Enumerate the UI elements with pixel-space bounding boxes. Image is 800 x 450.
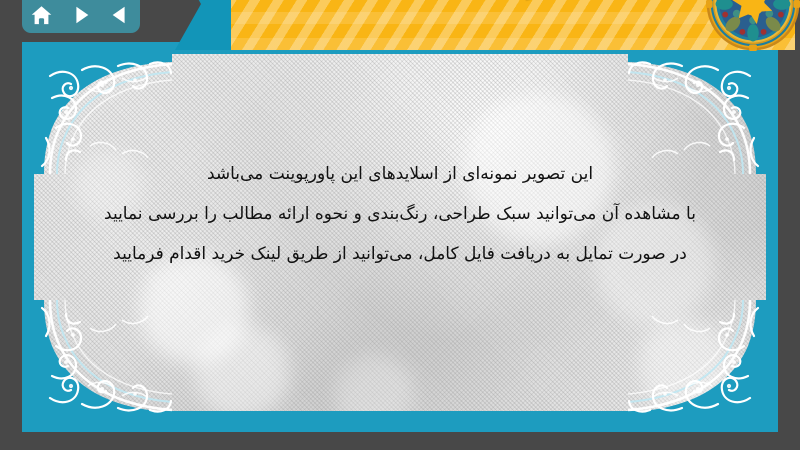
banner-ribbon-tail <box>175 0 233 50</box>
slide-body-text: این تصویر نمونه‌ای از اسلایدهای این پاور… <box>64 154 736 274</box>
slide-canvas: این تصویر نمونه‌ای از اسلایدهای این پاور… <box>22 42 778 432</box>
navigation-bar <box>22 0 140 33</box>
triangle-left-icon <box>109 4 131 26</box>
body-line-3: در صورت تمایل به دریافت فایل کامل، می‌تو… <box>64 234 736 274</box>
slide-title: کامل بهبود تدریجی واحد ناکارآمد در مدل ت… <box>231 0 729 2</box>
home-button[interactable] <box>29 2 55 28</box>
bokeh-circle <box>334 354 414 411</box>
body-line-1: این تصویر نمونه‌ای از اسلایدهای این پاور… <box>64 154 736 194</box>
bokeh-circle <box>639 319 731 411</box>
home-icon <box>30 4 53 27</box>
triangle-right-icon <box>70 4 92 26</box>
bokeh-circle <box>194 324 290 411</box>
next-slide-button[interactable] <box>68 2 94 28</box>
body-line-2: با مشاهده آن می‌توانید سبک طراحی، رنگ‌بن… <box>64 194 736 234</box>
title-banner: کامل بهبود تدریجی واحد ناکارآمد در مدل ت… <box>175 0 795 50</box>
slide-viewer: این تصویر نمونه‌ای از اسلایدهای این پاور… <box>0 0 800 450</box>
previous-slide-button[interactable] <box>107 2 133 28</box>
ornamental-medallion-icon <box>705 0 800 52</box>
slide-content-area: این تصویر نمونه‌ای از اسلایدهای این پاور… <box>34 54 766 411</box>
